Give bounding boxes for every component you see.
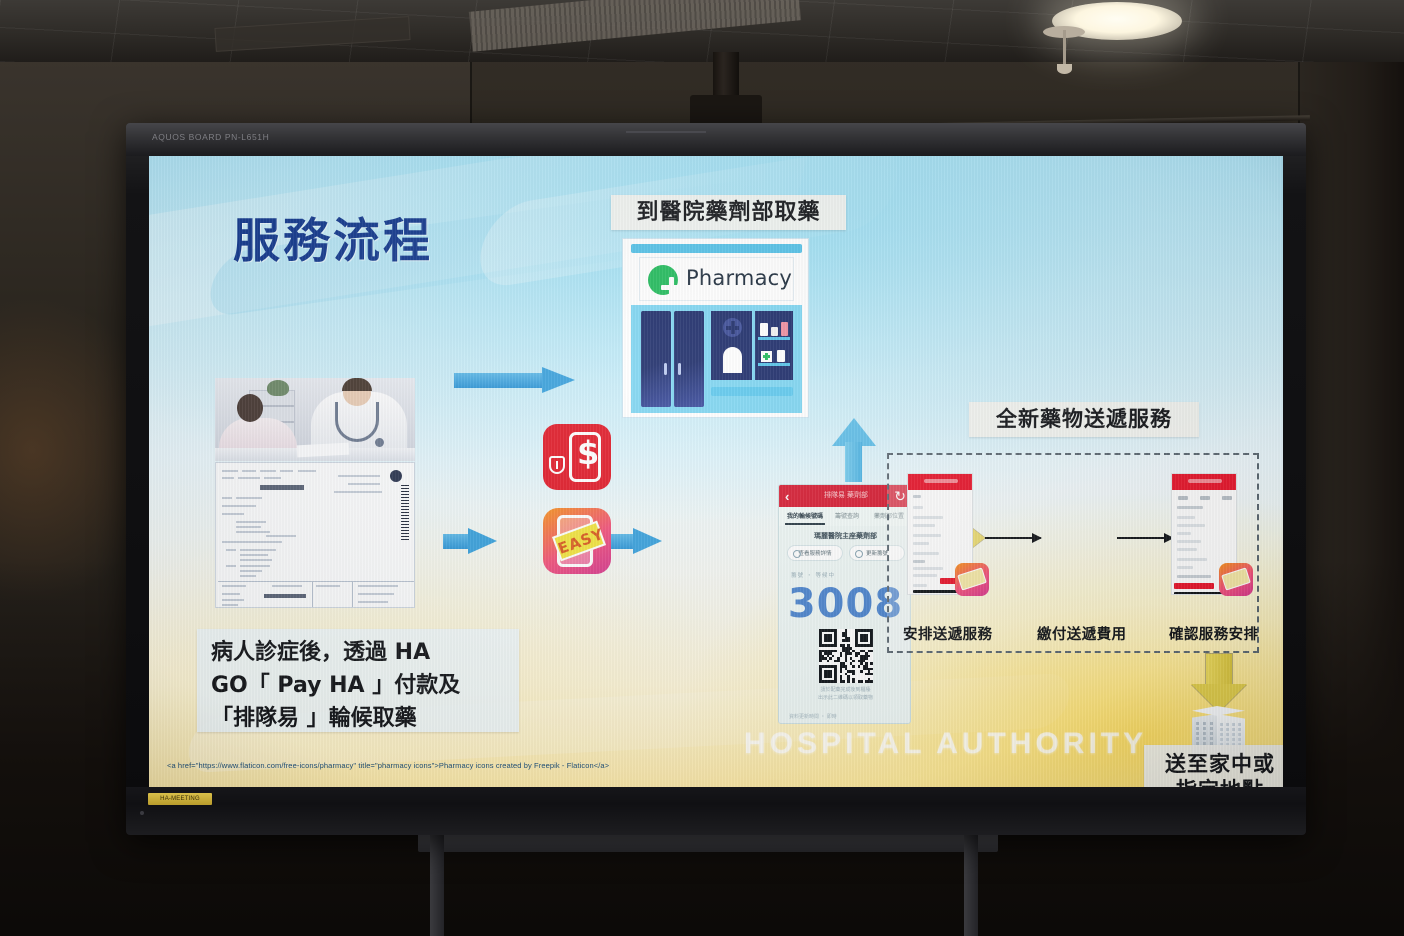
chevron-left-icon[interactable]: ‹ bbox=[785, 489, 789, 504]
tab-queue-lookup[interactable]: 籌號查詢 bbox=[829, 511, 865, 520]
easy-queue-app-icon[interactable]: EASY bbox=[543, 508, 611, 574]
photo-patient-head bbox=[237, 394, 263, 422]
stethoscope-bell-icon bbox=[375, 438, 384, 447]
delivery-steps-panel: $ bbox=[887, 453, 1259, 653]
display-brand-label: AQUOS BOARD PN-L651H bbox=[152, 132, 269, 142]
icon-attribution-text: <a href="https://www.flaticon.com/free-i… bbox=[167, 761, 609, 770]
arrow-phone-to-pharmacy-icon bbox=[832, 418, 876, 482]
rx-hospital-logo-icon bbox=[390, 470, 402, 482]
queue-note-line1: 請於配藥完成後到櫃檯 bbox=[779, 686, 911, 693]
delivery-step1-app-icon bbox=[955, 563, 989, 596]
service-detail-label: 查看服務詳情 bbox=[798, 551, 831, 557]
caption-line-3: 「排隊易 」輪候取藥 bbox=[211, 702, 507, 735]
home-delivery-line-2: 指定地點 bbox=[1144, 777, 1283, 787]
pharmacy-facade bbox=[631, 305, 802, 413]
pharmacy-storefront-illustration: Pharmacy bbox=[622, 238, 809, 418]
arrow-consultation-to-pharmacy-icon bbox=[454, 367, 574, 393]
payha-shield-icon bbox=[549, 456, 565, 474]
home-delivery-line-1: 送至家中或 bbox=[1144, 751, 1283, 777]
display-stand-crossbar bbox=[418, 832, 998, 852]
dollar-sign-icon: $ bbox=[577, 436, 599, 470]
ir-sensor-strip bbox=[626, 131, 706, 133]
pharmacy-door-right bbox=[674, 311, 704, 407]
presentation-slide[interactable]: HOSPITAL AUTHORITY 服務流程 bbox=[149, 156, 1283, 787]
pharmacy-signboard: Pharmacy bbox=[639, 257, 794, 301]
queue-note-line2: 出示此二維碼以領取藥物 bbox=[779, 694, 911, 701]
delivery-step-3-label: 確認服務安排 bbox=[1169, 623, 1258, 644]
display-stand-leg-left bbox=[430, 828, 444, 936]
caption-line-1: 病人診症後，透過 HA bbox=[211, 636, 507, 669]
page-title: 服務流程 bbox=[233, 202, 433, 271]
rx-barcode-icon bbox=[401, 485, 409, 541]
refresh-small-icon bbox=[855, 550, 863, 558]
pharmacy-counter bbox=[711, 387, 793, 396]
interactive-display-panel[interactable]: AQUOS BOARD PN-L651H HA-MEETING HOSPITAL… bbox=[126, 123, 1306, 835]
asset-sticker: HA-MEETING bbox=[148, 793, 212, 805]
arrow-rx-to-apps-icon bbox=[443, 528, 498, 554]
qr-code-icon bbox=[819, 629, 873, 683]
photo-plant bbox=[267, 380, 289, 396]
label-pharmacy-pickup: 到醫院藥劑部取藥 bbox=[611, 195, 846, 230]
pharmacy-sign-text: Pharmacy bbox=[686, 266, 792, 290]
pharmacy-awning bbox=[631, 244, 802, 253]
pharmacy-window-right bbox=[755, 311, 793, 380]
display-bezel-top: AQUOS BOARD PN-L651H bbox=[126, 123, 1306, 156]
payha-app-icon[interactable]: $ bbox=[543, 424, 611, 490]
sprinkler-stem bbox=[1063, 30, 1066, 68]
sprinkler-bulb bbox=[1057, 64, 1072, 74]
power-led-icon bbox=[140, 811, 144, 815]
caption-line-2: GO「 Pay HA 」付款及 bbox=[211, 669, 507, 702]
ceiling bbox=[0, 0, 1404, 62]
queue-note-line3: 資料更新時間 ・ 即時 bbox=[789, 713, 837, 720]
active-tab-underline bbox=[785, 523, 825, 525]
label-delivery-service: 全新藥物送遞服務 bbox=[969, 402, 1199, 437]
delivery-step-1-label: 安排送遞服務 bbox=[903, 623, 992, 644]
app-header-title: 排隊易 藥劑部 bbox=[811, 490, 881, 500]
prescription-document-image bbox=[215, 462, 415, 608]
delivery-arrow-2-icon bbox=[1117, 537, 1173, 539]
refresh-queue-label: 更新籌號 bbox=[866, 551, 888, 557]
tab-my-queue[interactable]: 我的輪候號碼 bbox=[783, 511, 827, 520]
pharmacy-door-left bbox=[641, 311, 671, 407]
pharmacy-window-left bbox=[711, 311, 752, 380]
service-detail-button[interactable]: 查看服務詳情 bbox=[787, 545, 843, 561]
queue-meta-label: 籌號 ・ 等候中 bbox=[791, 571, 835, 579]
pharmacy-cross-icon bbox=[648, 265, 678, 295]
delivery-step-2-label: 繳付送遞費用 bbox=[1037, 623, 1126, 644]
display-bezel-bottom: HA-MEETING bbox=[126, 787, 1306, 835]
info-icon bbox=[793, 550, 801, 558]
label-home-delivery: 送至家中或 指定地點 bbox=[1144, 745, 1283, 787]
delivery-step3-app-icon bbox=[1219, 563, 1253, 596]
arrow-apps-to-phone-icon bbox=[608, 528, 663, 554]
display-stand-leg-right bbox=[964, 828, 978, 936]
delivery-arrow-1-icon bbox=[985, 537, 1041, 539]
hospital-authority-watermark: HOSPITAL AUTHORITY bbox=[744, 727, 1147, 761]
process-caption-box: 病人診症後，透過 HA GO「 Pay HA 」付款及 「排隊易 」輪候取藥 bbox=[197, 629, 519, 732]
consultation-photo bbox=[215, 378, 415, 461]
